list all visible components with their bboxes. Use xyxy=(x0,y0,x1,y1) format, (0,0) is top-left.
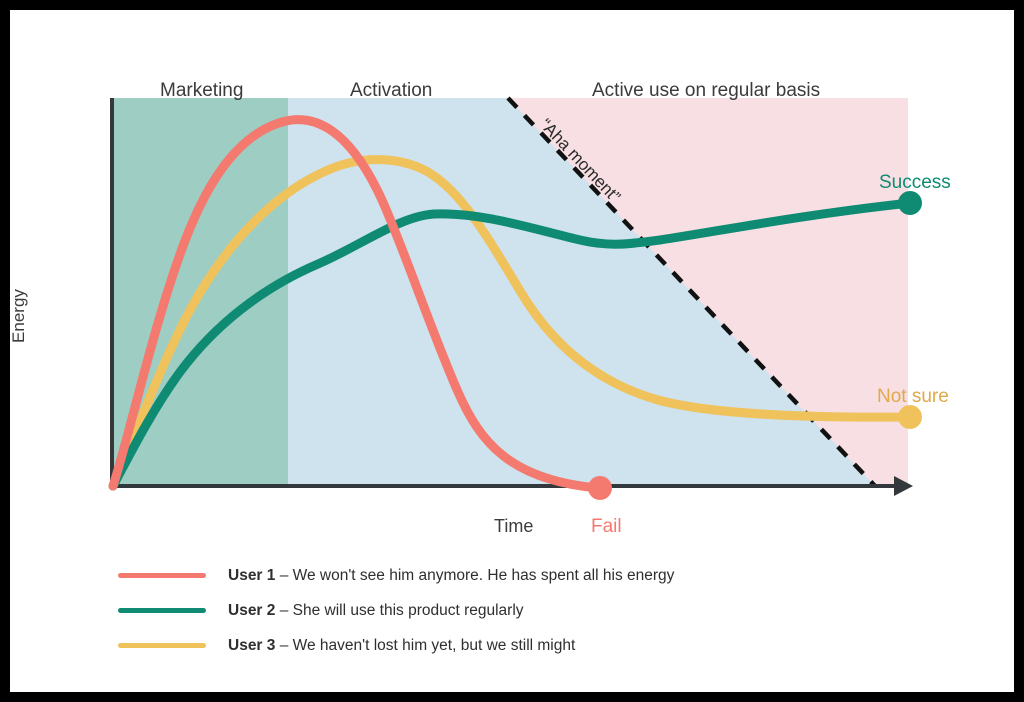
legend-item-user3: User 3 – We haven't lost him yet, but we… xyxy=(118,628,878,663)
y-axis-label: Energy xyxy=(10,256,29,376)
legend-text-user3: User 3 – We haven't lost him yet, but we… xyxy=(228,637,575,655)
legend-desc-user3: We haven't lost him yet, but we still mi… xyxy=(293,637,576,654)
legend-item-user2: User 2 – She will use this product regul… xyxy=(118,593,878,628)
endpoint-dot-user1 xyxy=(588,476,612,500)
chart-legend: User 1 – We won't see him anymore. He ha… xyxy=(118,558,878,663)
image-frame: Marketing Activation Active use on regul… xyxy=(0,0,1024,702)
x-axis-label: Time xyxy=(494,516,533,537)
legend-name-user3: User 3 xyxy=(228,637,275,654)
legend-sep-user2: – xyxy=(275,602,292,619)
legend-item-user1: User 1 – We won't see him anymore. He ha… xyxy=(118,558,878,593)
legend-name-user2: User 2 xyxy=(228,602,275,619)
legend-swatch-user3 xyxy=(118,643,206,648)
phase-label-active-use: Active use on regular basis xyxy=(592,80,820,102)
legend-swatch-user1 xyxy=(118,573,206,578)
legend-text-user2: User 2 – She will use this product regul… xyxy=(228,602,524,620)
endpoint-label-success: Success xyxy=(879,172,951,194)
legend-name-user1: User 1 xyxy=(228,567,275,584)
legend-desc-user2: She will use this product regularly xyxy=(293,602,524,619)
endpoint-dot-user2 xyxy=(898,191,922,215)
endpoint-label-fail: Fail xyxy=(591,516,622,538)
legend-sep-user3: – xyxy=(275,637,292,654)
endpoint-dot-user3 xyxy=(898,405,922,429)
endpoint-label-not-sure: Not sure xyxy=(877,386,949,408)
legend-desc-user1: We won't see him anymore. He has spent a… xyxy=(293,567,675,584)
legend-text-user1: User 1 – We won't see him anymore. He ha… xyxy=(228,567,674,585)
phase-label-activation: Activation xyxy=(350,80,432,102)
legend-sep-user1: – xyxy=(275,567,292,584)
legend-swatch-user2 xyxy=(118,608,206,613)
phase-label-marketing: Marketing xyxy=(160,80,243,102)
chart-canvas: Marketing Activation Active use on regul… xyxy=(10,10,1014,692)
